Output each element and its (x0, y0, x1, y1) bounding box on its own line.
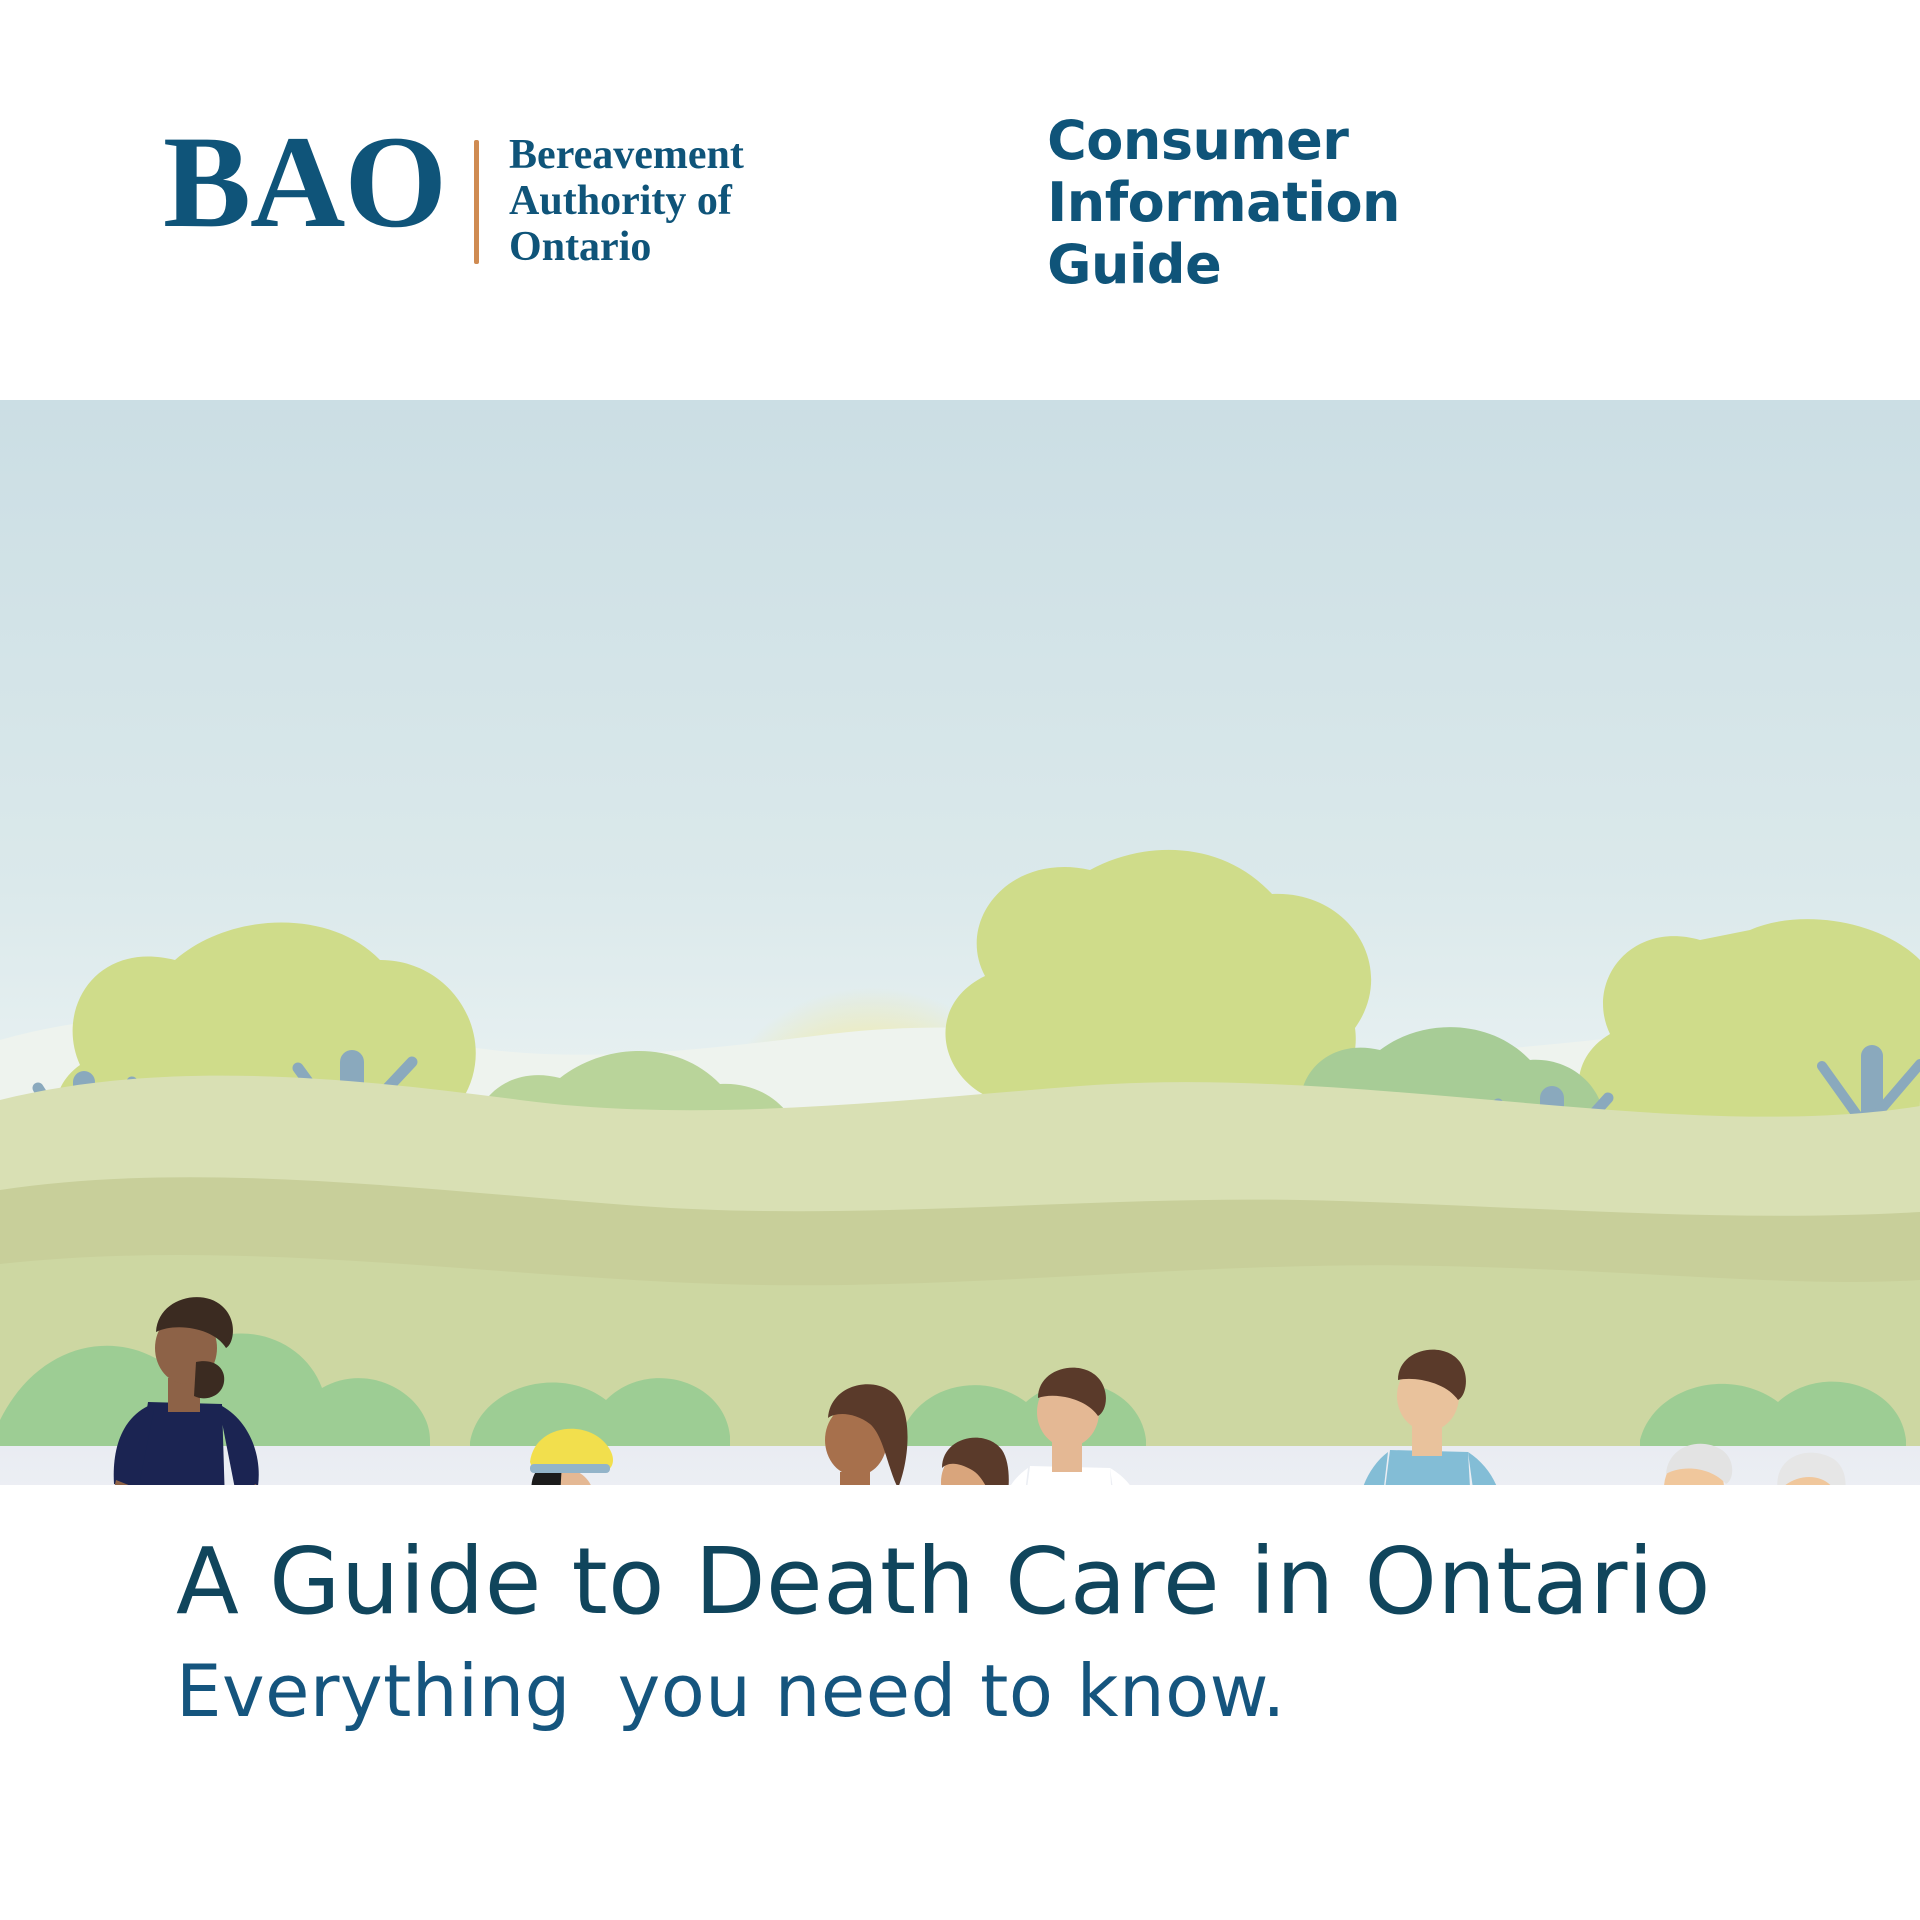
logo-wordmark: BAO (163, 116, 474, 270)
guide-kicker: Consumer Information Guide (1047, 110, 1400, 296)
park-scene-illustration (0, 400, 1920, 1485)
kicker-line-2: Information (1047, 172, 1400, 234)
page-subtitle: Everything you need to know. (176, 1650, 1920, 1732)
logo-name-line-2: Authority of (509, 178, 744, 224)
logo-name-line-3: Ontario (509, 224, 744, 270)
bao-logo: BAO Bereavement Authority of Ontario (163, 128, 744, 270)
kicker-line-1: Consumer (1047, 110, 1400, 172)
page-header: BAO Bereavement Authority of Ontario Con… (0, 0, 1920, 400)
logo-organization-name: Bereavement Authority of Ontario (509, 128, 744, 270)
kicker-line-3: Guide (1047, 234, 1400, 296)
logo-name-line-1: Bereavement (509, 132, 744, 178)
page-title: A Guide to Death Care in Ontario (176, 1530, 1920, 1634)
park-scene-svg (0, 400, 1920, 1485)
logo-divider (474, 140, 479, 264)
cover-page: BAO Bereavement Authority of Ontario Con… (0, 0, 1920, 1920)
cover-titles: A Guide to Death Care in Ontario Everyth… (0, 1530, 1920, 1732)
